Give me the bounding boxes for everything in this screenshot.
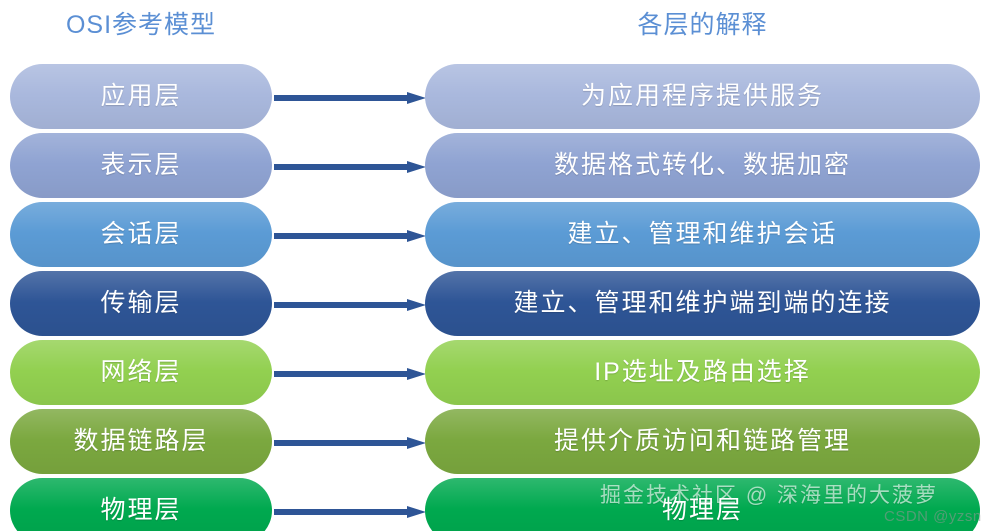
arrow-right-icon: [274, 368, 426, 380]
arrow-shaft: [274, 95, 407, 101]
osi-row: 应用层为应用程序提供服务: [0, 64, 990, 129]
arrow-right-icon: [274, 230, 426, 242]
arrow-head: [407, 368, 426, 380]
column-title-osi-model: OSI参考模型: [0, 8, 282, 42]
layer-box[interactable]: 会话层: [10, 202, 272, 267]
arrow-head: [407, 506, 426, 518]
explanation-label: 建立、管理和维护端到端的连接: [513, 291, 891, 316]
arrow-right-icon: [274, 299, 426, 311]
arrow-head: [407, 437, 426, 449]
layer-box[interactable]: 传输层: [10, 271, 272, 336]
osi-row: 传输层建立、管理和维护端到端的连接: [0, 271, 990, 336]
osi-row: 物理层物理层: [0, 478, 990, 531]
layer-box[interactable]: 物理层: [10, 478, 272, 531]
explanation-box[interactable]: 数据格式转化、数据加密: [425, 133, 980, 198]
explanation-label: 建立、管理和维护会话: [567, 222, 837, 247]
arrow-shaft: [274, 371, 407, 377]
explanation-box[interactable]: 为应用程序提供服务: [425, 64, 980, 129]
explanation-label: 物理层: [662, 498, 743, 523]
arrow-shaft: [274, 164, 407, 170]
arrow-right-icon: [274, 92, 426, 104]
osi-model-diagram: OSI参考模型 各层的解释 应用层为应用程序提供服务表示层数据格式转化、数据加密…: [0, 0, 990, 531]
layer-box[interactable]: 表示层: [10, 133, 272, 198]
arrow-right-icon: [274, 161, 426, 173]
explanation-label: 提供介质访问和链路管理: [554, 429, 851, 454]
layer-label: 传输层: [100, 291, 181, 316]
explanation-box[interactable]: 建立、管理和维护端到端的连接: [425, 271, 980, 336]
layer-label: 网络层: [100, 360, 181, 385]
layer-label: 应用层: [100, 84, 181, 109]
explanation-label: 数据格式转化、数据加密: [554, 153, 851, 178]
layer-box[interactable]: 数据链路层: [10, 409, 272, 474]
arrow-shaft: [274, 440, 407, 446]
layer-box[interactable]: 应用层: [10, 64, 272, 129]
arrow-shaft: [274, 302, 407, 308]
osi-row: 会话层建立、管理和维护会话: [0, 202, 990, 267]
explanation-box[interactable]: 提供介质访问和链路管理: [425, 409, 980, 474]
arrow-head: [407, 92, 426, 104]
osi-row: 数据链路层提供介质访问和链路管理: [0, 409, 990, 474]
layer-label: 会话层: [100, 222, 181, 247]
column-title-explanations: 各层的解释: [425, 8, 980, 42]
explanation-box[interactable]: IP选址及路由选择: [425, 340, 980, 405]
arrow-head: [407, 161, 426, 173]
layer-label: 数据链路层: [73, 429, 208, 454]
arrow-right-icon: [274, 437, 426, 449]
arrow-shaft: [274, 233, 407, 239]
arrow-head: [407, 299, 426, 311]
layer-label: 物理层: [100, 498, 181, 523]
layer-box[interactable]: 网络层: [10, 340, 272, 405]
osi-row: 表示层数据格式转化、数据加密: [0, 133, 990, 198]
layer-label: 表示层: [100, 153, 181, 178]
osi-row: 网络层IP选址及路由选择: [0, 340, 990, 405]
arrow-head: [407, 230, 426, 242]
arrow-right-icon: [274, 506, 426, 518]
explanation-box[interactable]: 建立、管理和维护会话: [425, 202, 980, 267]
explanation-label: 为应用程序提供服务: [581, 84, 824, 109]
arrow-shaft: [274, 509, 407, 515]
explanation-box[interactable]: 物理层: [425, 478, 980, 531]
explanation-label: IP选址及路由选择: [594, 360, 811, 385]
